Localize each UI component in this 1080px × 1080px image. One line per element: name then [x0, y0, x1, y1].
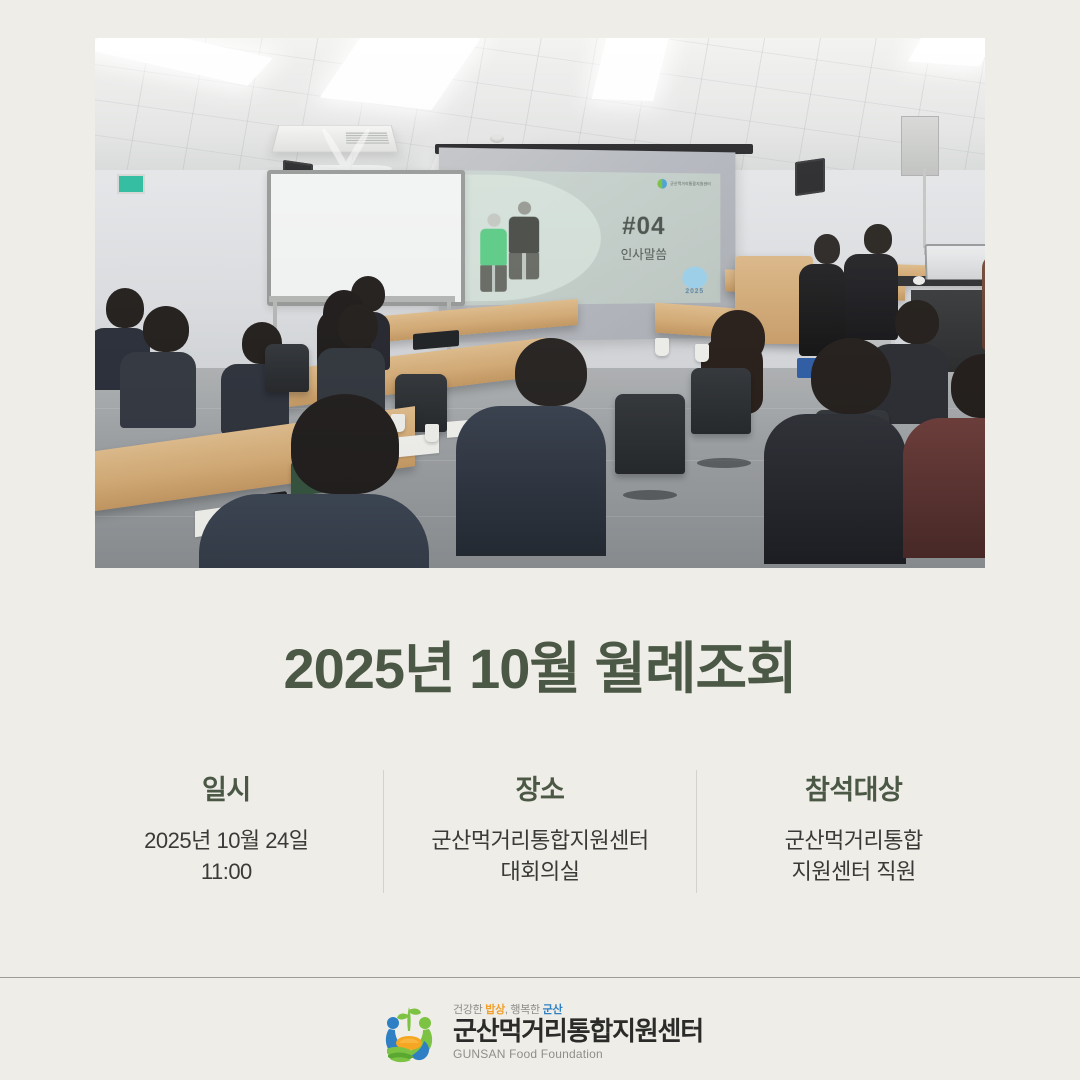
office-chair [691, 368, 751, 434]
ceiling-sensor [490, 134, 504, 143]
info-heading-attendees: 참석대상 [705, 768, 1002, 807]
mascot-year: 2025 [682, 288, 707, 295]
info-value-attendees-line2: 지원센터 직원 [705, 856, 1002, 887]
slide-number: #04 [575, 212, 711, 241]
footer-org-name-en: GUNSAN Food Foundation [453, 1048, 703, 1061]
slide-figure-right [509, 201, 539, 286]
wall-speaker [795, 158, 825, 196]
slide-caption: 인사말씀 [575, 244, 711, 263]
photo-scene: #04 인사말씀 군산먹거리통합지원센터 2025 [95, 38, 985, 568]
info-heading-place: 장소 [392, 768, 689, 807]
exit-sign [117, 174, 145, 194]
slide-logo-icon [658, 179, 668, 189]
presentation-slide: #04 인사말씀 군산먹거리통합지원센터 2025 [455, 170, 720, 305]
info-column-place: 장소 군산먹거리통합지원센터 대회의실 [384, 762, 697, 893]
footer-logo-block: 건강한 밥상, 행복한 군산 군산먹거리통합지원센터 GUNSAN Food F… [0, 985, 1080, 1080]
page-title: 2025년 10월 월례조회 [0, 638, 1080, 700]
footer-org-name: 군산먹거리통합지원센터 [453, 1018, 703, 1045]
conduit [923, 168, 926, 248]
info-value-date-line2: 11:00 [78, 856, 375, 887]
info-value-place-line1: 군산먹거리통합지원센터 [392, 825, 689, 856]
attendee-person [795, 338, 906, 564]
office-chair [265, 344, 309, 392]
gunsan-food-foundation-logo-icon [377, 1001, 441, 1065]
tagline-part2: , 행복한 [505, 1004, 543, 1016]
attendee-person [495, 338, 606, 556]
paper-cup [655, 338, 669, 356]
info-value-date-line1: 2025년 10월 24일 [78, 825, 375, 856]
slide-logo: 군산먹거리통합지원센터 [658, 179, 711, 189]
info-value-place-line2: 대회의실 [392, 856, 689, 887]
info-heading-date: 일시 [78, 768, 375, 807]
office-chair [615, 394, 685, 474]
footer-divider [0, 977, 1080, 978]
attendee-person [261, 394, 429, 568]
laptop [924, 244, 985, 279]
event-photo: #04 인사말씀 군산먹거리통합지원센터 2025 [95, 38, 985, 568]
chair-base [697, 458, 751, 468]
mascot-icon [682, 267, 707, 289]
slide-figure-left [480, 213, 507, 286]
mouse [913, 276, 925, 285]
attendee-person [935, 354, 985, 558]
tagline-highlight-bapsang: 밥상 [485, 1004, 505, 1016]
info-value-attendees-line1: 군산먹거리통합 [705, 825, 1002, 856]
footer-tagline: 건강한 밥상, 행복한 군산 [453, 1005, 703, 1017]
attendee-person [135, 306, 196, 428]
tagline-highlight-gunsan: 군산 [543, 1004, 563, 1016]
info-column-attendees: 참석대상 군산먹거리통합 지원센터 직원 [697, 762, 1010, 893]
tagline-part1: 건강한 [453, 1004, 485, 1016]
ceiling-light-icon [908, 38, 985, 67]
slide-logo-text: 군산먹거리통합지원센터 [670, 181, 711, 187]
slide-mascot: 2025 [682, 267, 707, 296]
info-column-date: 일시 2025년 10월 24일 11:00 [70, 762, 383, 893]
electrical-box [901, 116, 939, 176]
footer-logo-text: 건강한 밥상, 행복한 군산 군산먹거리통합지원센터 GUNSAN Food F… [453, 1005, 703, 1060]
poster-root: #04 인사말씀 군산먹거리통합지원센터 2025 [0, 0, 1080, 1080]
paper-cup [695, 344, 709, 362]
event-info-row: 일시 2025년 10월 24일 11:00 장소 군산먹거리통합지원센터 대회… [70, 762, 1010, 893]
chair-base [623, 490, 677, 500]
